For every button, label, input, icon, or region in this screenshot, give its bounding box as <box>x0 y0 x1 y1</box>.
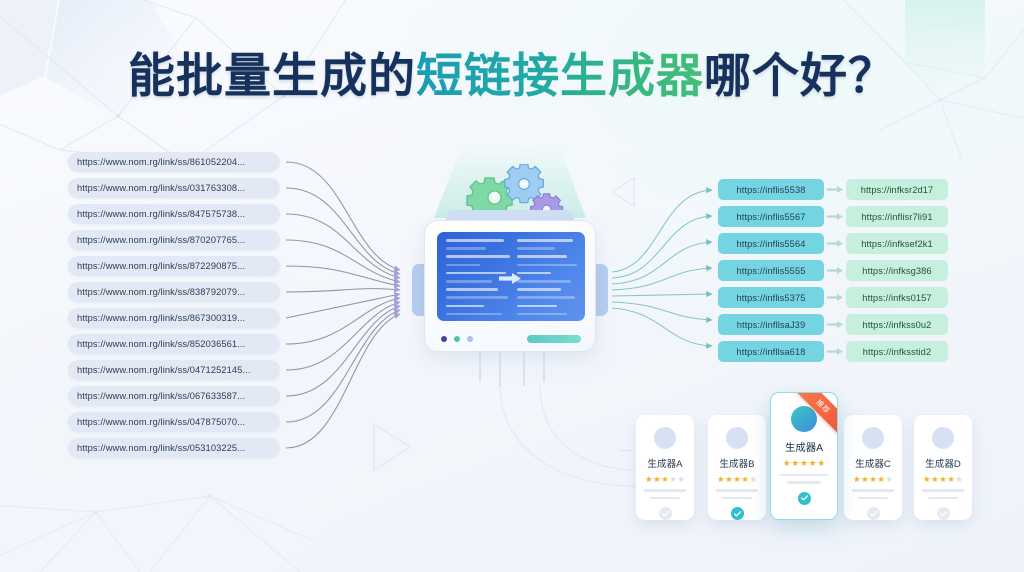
row-arrow-icon <box>824 348 846 355</box>
star-rating: ★★★★★ <box>645 475 685 483</box>
url-list-item[interactable]: https://www.nom.rg/link/ss/852036561... <box>68 334 280 354</box>
result-row: https://inflis5564 https://infksef2k1 <box>718 233 948 254</box>
avatar <box>862 427 884 449</box>
star-rating: ★★★★★ <box>717 475 757 483</box>
infographic-canvas: 能批量生成的短链接生成器哪个好？ <box>0 0 1024 572</box>
final-link-pill[interactable]: https://infkss0u2 <box>846 314 948 335</box>
triangle-decor-left <box>374 424 410 470</box>
result-row: https://infllsaJ39 https://infkss0u2 <box>718 314 948 335</box>
result-row: https://inflis5567 https://inflisr7li91 <box>718 206 948 227</box>
short-link-pill[interactable]: https://infllsaJ39 <box>718 314 824 335</box>
check-badge-icon <box>659 507 672 520</box>
short-link-pill[interactable]: https://inflis5555 <box>718 260 824 281</box>
final-link-pill[interactable]: https://inflisr7li91 <box>846 206 948 227</box>
row-arrow-icon <box>824 321 846 328</box>
check-badge-icon <box>867 507 880 520</box>
url-list-item[interactable]: https://www.nom.rg/link/ss/838792079... <box>68 282 280 302</box>
ranking-card[interactable]: 生成器B ★★★★★ <box>708 415 766 520</box>
ranking-card-featured[interactable]: 推荐 生成器A ★★★★★ <box>770 392 838 520</box>
short-link-pill[interactable]: https://inflis5538 <box>718 179 824 200</box>
final-link-pill[interactable]: https://infksr2d17 <box>846 179 948 200</box>
url-list-item[interactable]: https://www.nom.rg/link/ss/031763308... <box>68 178 280 198</box>
device-screen <box>437 232 585 321</box>
check-badge-icon <box>731 507 744 520</box>
row-arrow-icon <box>824 213 846 220</box>
row-arrow-icon <box>824 267 846 274</box>
avatar <box>654 427 676 449</box>
ranking-card[interactable]: 生成器D ★★★★★ <box>914 415 972 520</box>
generator-name: 生成器C <box>855 456 891 470</box>
result-row: https://infllsa618 https://infksstid2 <box>718 341 948 362</box>
generator-device-illustration <box>410 172 610 382</box>
result-row: https://inflis5538 https://infksr2d17 <box>718 179 948 200</box>
page-title: 能批量生成的短链接生成器哪个好？ <box>0 52 1024 101</box>
title-part-accent: 短链接生成器 <box>416 49 704 104</box>
avatar <box>791 406 817 432</box>
url-list-item[interactable]: https://www.nom.rg/link/ss/053103225... <box>68 438 280 458</box>
title-part-prefix: 能批量生成的 <box>128 49 416 104</box>
short-link-pill[interactable]: https://inflis5375 <box>718 287 824 308</box>
ranking-card[interactable]: 生成器C ★★★★★ <box>844 415 902 520</box>
short-link-pill[interactable]: https://inflis5567 <box>718 206 824 227</box>
device-legs <box>466 352 558 386</box>
star-rating: ★★★★★ <box>853 475 893 483</box>
ranking-card[interactable]: 生成器A ★★★★★ <box>636 415 694 520</box>
device-body <box>424 220 596 352</box>
generator-name: 生成器A <box>647 456 682 470</box>
url-list-item[interactable]: https://www.nom.rg/link/ss/0471252145... <box>68 360 280 380</box>
url-list-item[interactable]: https://www.nom.rg/link/ss/047875070... <box>68 412 280 432</box>
result-row: https://inflis5555 https://infksg386 <box>718 260 948 281</box>
avatar <box>932 427 954 449</box>
detail-lines <box>922 489 964 504</box>
star-rating: ★★★★★ <box>783 459 826 468</box>
url-list-item[interactable]: https://www.nom.rg/link/ss/872290875... <box>68 256 280 276</box>
device-progress-bar <box>527 335 581 343</box>
final-link-pill[interactable]: https://infksef2k1 <box>846 233 948 254</box>
check-badge-icon <box>798 492 811 505</box>
detail-lines <box>852 489 894 504</box>
generator-name: 生成器A <box>785 439 823 454</box>
result-row: https://inflis5375 https://infks0157 <box>718 287 948 308</box>
row-arrow-icon <box>824 186 846 193</box>
generator-ranking-cards: 生成器A ★★★★★ 生成器B ★★★★★ 推荐 生成器A <box>636 392 972 522</box>
final-link-pill[interactable]: https://infksstid2 <box>846 341 948 362</box>
url-list-item[interactable]: https://www.nom.rg/link/ss/867300319... <box>68 308 280 328</box>
url-list-item[interactable]: https://www.nom.rg/link/ss/847575738... <box>68 204 280 224</box>
row-arrow-icon <box>824 294 846 301</box>
final-link-pill[interactable]: https://infksg386 <box>846 260 948 281</box>
check-badge-icon <box>937 507 950 520</box>
screen-code-right <box>517 239 577 321</box>
device-status-dots <box>441 336 473 342</box>
detail-lines <box>644 489 686 504</box>
detail-lines <box>780 474 828 489</box>
short-link-pill[interactable]: https://infllsa618 <box>718 341 824 362</box>
detail-lines <box>716 489 758 504</box>
star-rating: ★★★★★ <box>923 475 963 483</box>
url-list-item[interactable]: https://www.nom.rg/link/ss/861052204... <box>68 152 280 172</box>
generator-name: 生成器B <box>719 456 754 470</box>
title-part-suffix: 哪个好？ <box>704 49 896 104</box>
card-divider <box>620 450 634 451</box>
input-url-list: https://www.nom.rg/link/ss/861052204... … <box>68 152 280 464</box>
triangle-decor-right <box>612 178 634 206</box>
final-link-pill[interactable]: https://infks0157 <box>846 287 948 308</box>
url-list-item[interactable]: https://www.nom.rg/link/ss/870207765... <box>68 230 280 250</box>
avatar <box>726 427 748 449</box>
url-list-item[interactable]: https://www.nom.rg/link/ss/067633587... <box>68 386 280 406</box>
generated-short-links: https://inflis5538 https://infksr2d17 ht… <box>718 179 948 368</box>
short-link-pill[interactable]: https://inflis5564 <box>718 233 824 254</box>
row-arrow-icon <box>824 240 846 247</box>
generator-name: 生成器D <box>925 456 961 470</box>
transform-arrow-icon <box>499 273 521 284</box>
